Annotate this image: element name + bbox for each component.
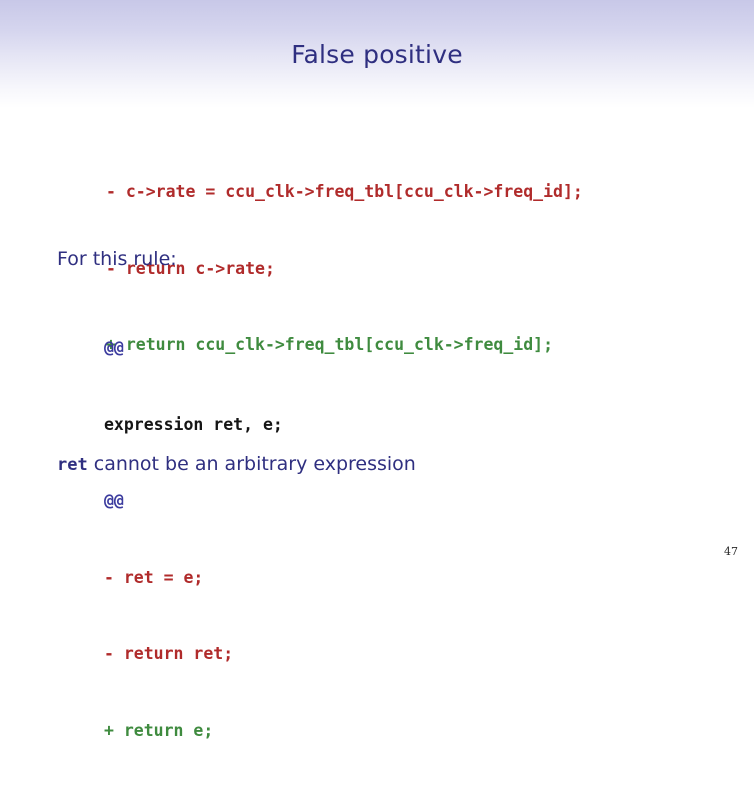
diff-line-removed: - return c->rate; bbox=[106, 256, 583, 282]
for-this-rule-heading: For this rule: bbox=[57, 248, 177, 270]
rule-metavariable-declaration: expression ret, e; bbox=[104, 412, 283, 438]
rule-line-removed: - return ret; bbox=[104, 641, 283, 667]
slide: False positive - c->rate = ccu_clk->freq… bbox=[0, 0, 754, 566]
slide-body: - c->rate = ccu_clk->freq_tbl[ccu_clk->f… bbox=[0, 108, 754, 566]
closing-note-identifier: ret bbox=[57, 455, 88, 475]
rule-line-removed: - ret = e; bbox=[104, 565, 283, 591]
page-number: 47 bbox=[724, 545, 738, 558]
rule-hunk-marker-close: @@ bbox=[104, 488, 283, 514]
rule-hunk-marker-open: @@ bbox=[104, 335, 283, 361]
closing-note: ret cannot be an arbitrary expression bbox=[57, 453, 416, 475]
rule-line-added: + return e; bbox=[104, 718, 283, 744]
diff-line-removed: - c->rate = ccu_clk->freq_tbl[ccu_clk->f… bbox=[106, 179, 583, 205]
page-title: False positive bbox=[0, 40, 754, 69]
semantic-patch-rule-block: @@ expression ret, e; @@ - ret = e; - re… bbox=[104, 284, 283, 794]
closing-note-text: cannot be an arbitrary expression bbox=[88, 453, 416, 475]
